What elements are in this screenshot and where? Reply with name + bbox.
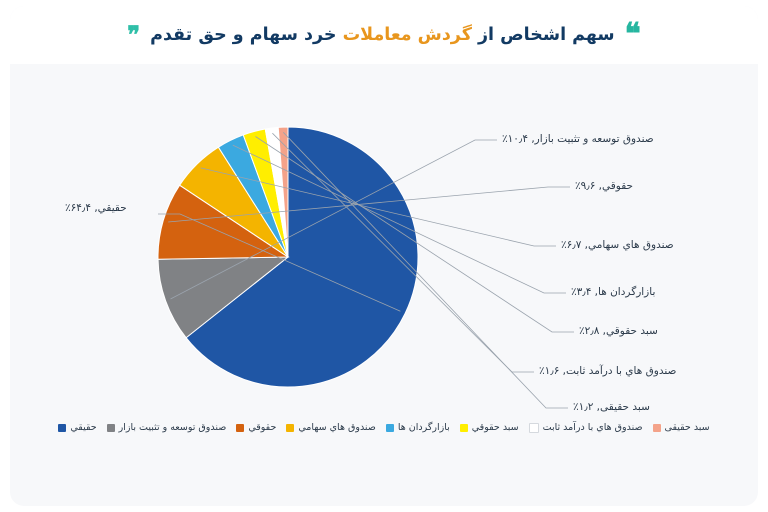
legend-label: حقوقي: [248, 422, 276, 433]
legend-item[interactable]: حقوقي: [236, 422, 276, 433]
legend-label: صندوق توسعه و تثبیت بازار: [119, 422, 227, 433]
legend-swatch-icon: [107, 424, 115, 432]
slice-label-individual-basket: سبد حقیقی, ۱٫۲٪: [573, 401, 650, 413]
slice-label-individual: حقيقي, ۶۴٫۴٪: [65, 202, 127, 214]
chart-header: ❝ سهم اشخاص از گردش معاملات خرد سهام و ح…: [10, 6, 758, 64]
legend-label: سبد حقوقي: [472, 422, 519, 433]
legend-label: سبد حقیقی: [665, 422, 710, 433]
legend-item[interactable]: صندوق هاي سهامي: [286, 422, 376, 433]
legend-item[interactable]: سبد حقوقي: [460, 422, 519, 433]
legend-item[interactable]: حقيقي: [58, 422, 96, 433]
legend-label: صندوق هاي سهامي: [298, 422, 376, 433]
legend-swatch-icon: [236, 424, 244, 432]
slice-label-fixed-income-funds: صندوق هاي با درآمد ثابت, ۱٫۶٪: [539, 365, 676, 377]
screenshot-root: ❝ سهم اشخاص از گردش معاملات خرد سهام و ح…: [0, 0, 768, 512]
legend-item[interactable]: بازارگردان ها: [386, 422, 450, 433]
legend-item[interactable]: سبد حقیقی: [653, 422, 710, 433]
legend-item[interactable]: صندوق هاي با درآمد ثابت: [529, 422, 643, 433]
legend-label: بازارگردان ها: [398, 422, 450, 433]
legend-swatch-icon: [653, 424, 661, 432]
legend-label: حقيقي: [70, 422, 96, 433]
slice-label-legal: حقوقي, ۹٫۶٪: [575, 180, 633, 192]
legend-label: صندوق هاي با درآمد ثابت: [543, 422, 643, 433]
chart-area: صندوق توسعه و تثبیت بازار, ۱۰٫۴٪ حقوقي, …: [10, 64, 758, 506]
quote-open-icon: ❝: [625, 23, 641, 47]
quote-close-icon: ❞: [127, 25, 140, 44]
title-wrap: ❝ سهم اشخاص از گردش معاملات خرد سهام و ح…: [127, 23, 641, 47]
title-part2: خرد سهام و حق تقدم: [150, 25, 342, 45]
legend-swatch-icon: [460, 424, 468, 432]
slice-label-equity-funds: صندوق هاي سهامي, ۶٫۷٪: [561, 239, 674, 251]
slice-label-fund-stabilization: صندوق توسعه و تثبیت بازار, ۱۰٫۴٪: [502, 133, 654, 145]
legend-swatch-icon: [529, 423, 539, 433]
legend-swatch-icon: [286, 424, 294, 432]
slice-label-market-makers: بازارگردان ها, ۳٫۴٪: [571, 286, 655, 298]
pie-chart: [10, 64, 758, 506]
title-part1: سهم اشخاص از: [472, 25, 615, 45]
title-accent: گردش معاملات: [343, 25, 472, 45]
legend-swatch-icon: [58, 424, 66, 432]
page-title: سهم اشخاص از گردش معاملات خرد سهام و حق …: [150, 25, 615, 45]
legend-item[interactable]: صندوق توسعه و تثبیت بازار: [107, 422, 227, 433]
slice-label-legal-basket: سبد حقوقي, ۲٫۸٪: [579, 325, 658, 337]
legend-swatch-icon: [386, 424, 394, 432]
chart-legend: حقيقيصندوق توسعه و تثبیت بازارحقوقيصندوق…: [10, 422, 758, 433]
pie-slices: [158, 127, 418, 387]
